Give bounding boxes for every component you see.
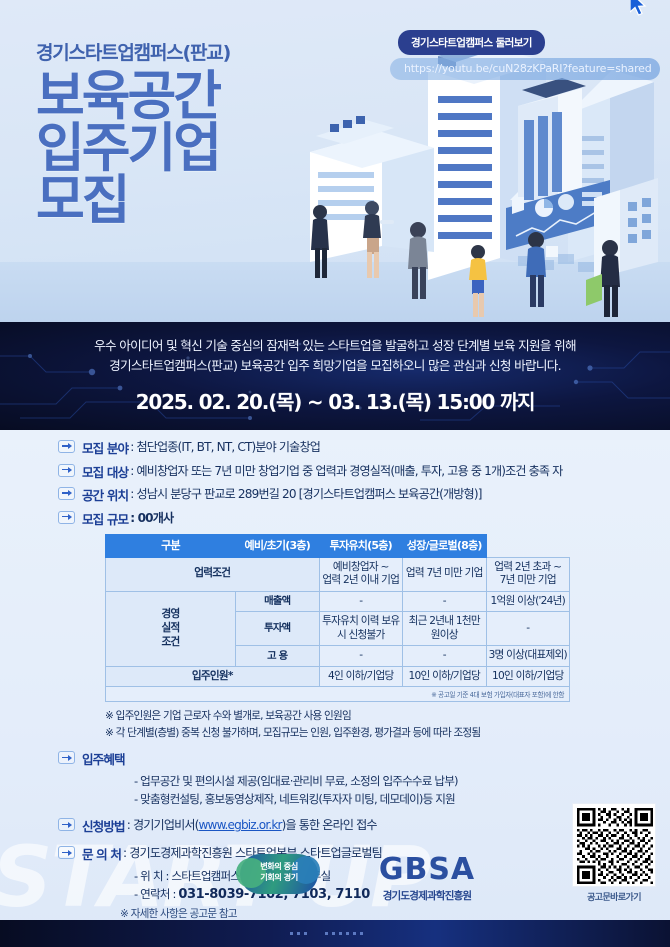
qr-svg xyxy=(577,808,653,884)
table-row: 입주인원*4인 이하/기업당10인 이하/기업당10인 이하/기업당 xyxy=(106,666,570,687)
benefits-label: 입주혜택 xyxy=(82,749,125,768)
arrow-icon xyxy=(58,487,75,500)
title-block: 경기스타트업캠퍼스(판교) 보육공간 입주기업 모집 xyxy=(36,38,230,227)
bullet-row-4: 모집 규모 : 00개사 xyxy=(58,509,640,528)
notes-block: ※ 입주인원은 기업 근로자 수와 별개로, 보육공간 사용 인원임 ※ 각 단… xyxy=(58,708,640,740)
bullet-text: : 예비창업자 또는 7년 미만 창업기업 중 업력과 경영실적(매출, 투자,… xyxy=(130,462,562,479)
band-line-2: 경기스타트업캠퍼스(판교) 보육공간 입주 희망기업을 모집하오니 많은 관심과… xyxy=(0,356,670,376)
note-1: ※ 입주인원은 기업 근로자 수와 별개로, 보육공간 사용 인원임 xyxy=(105,708,640,723)
bullet-label: 모집 대상 xyxy=(82,462,128,481)
title-line-1: 보육공간 xyxy=(36,71,230,123)
bullet-row-1: 모집 분야 : 첨단업종(IT, BT, NT, CT)분야 기술창업 xyxy=(58,438,640,457)
mouse-cursor-icon xyxy=(630,0,648,18)
table-cell-2-1: 최근 2년내 1천만원이상 xyxy=(403,612,487,646)
row-label: 업력조건 xyxy=(106,557,320,591)
table-cell-3-2: 3명 이상(대표제외) xyxy=(486,646,570,667)
arrow-icon xyxy=(58,511,75,524)
main-content: START UP 모집 분야 : 첨단업종(IT, BT, NT, CT)분야 … xyxy=(0,430,670,947)
youtube-url[interactable]: https://youtu.be/cuN28zKPaRI?feature=sha… xyxy=(390,58,660,80)
table-cell-0-2: 업력 2년 초과 ~7년 미만 기업 xyxy=(486,557,570,591)
bullet-label: 모집 분야 xyxy=(82,438,128,457)
title-line-2: 입주기업 xyxy=(36,123,230,175)
table-cell-1-1: - xyxy=(403,591,487,612)
dot xyxy=(339,932,342,935)
qr-block[interactable]: 공고문바로가기 xyxy=(572,803,656,903)
band-description: 우수 아이디어 및 혁신 기술 중심의 잠재력 있는 스타트업을 발굴하고 성장… xyxy=(0,322,670,375)
poster: 경기스타트업캠퍼스 둘러보기 https://youtu.be/cuN28zKP… xyxy=(0,0,670,947)
table-cell-1-2: 1억원 이상('24년) xyxy=(486,591,570,612)
page-title: 보육공간 입주기업 모집 xyxy=(36,71,230,227)
youtube-link-block[interactable]: 경기스타트업캠퍼스 둘러보기 https://youtu.be/cuN28zKP… xyxy=(390,30,660,80)
table-cell-0-0: 예비창업자 ~업력 2년 이내 기업 xyxy=(319,557,403,591)
criteria-table: 구분예비/초기(3층)투자유치(5층)성장/글로벌(8층) 업력조건예비창업자 … xyxy=(105,534,570,688)
table-row: 경영실적조건매출액--1억원 이상('24년) xyxy=(106,591,570,612)
city-svg xyxy=(310,40,670,320)
dot xyxy=(346,932,349,935)
bullet-label: 공간 위치 xyxy=(82,485,128,504)
note-2: ※ 각 단계별(층별) 중복 신청 불가하며, 모집규모는 인원, 입주환경, … xyxy=(105,725,640,740)
bullet-label: 모집 규모 xyxy=(82,509,128,528)
table-cell-3-0: - xyxy=(319,646,403,667)
dot xyxy=(360,932,363,935)
description-band: 우수 아이디어 및 혁신 기술 중심의 잠재력 있는 스타트업을 발굴하고 성장… xyxy=(0,322,670,430)
row-group-label: 경영실적조건 xyxy=(106,591,236,666)
table-header-2: 투자유치(5층) xyxy=(319,534,403,557)
table-cell-2-2: - xyxy=(486,612,570,646)
title-line-3: 모집 xyxy=(36,175,230,227)
gyeonggi-logo: 변화의 중심 기회의 경기 xyxy=(240,854,318,898)
apply-prefix: 경기기업비서( xyxy=(133,818,199,832)
city-illustration xyxy=(310,40,670,320)
table-cell-4-1: 10인 이하/기업당 xyxy=(403,666,487,687)
qr-label: 공고문바로가기 xyxy=(572,890,656,903)
row-sub-label: 고 용 xyxy=(236,646,320,667)
benefit-item-1: - 업무공간 및 편의시설 제공(임대료·관리비 무료, 소정의 입주수수료 납… xyxy=(134,773,640,789)
footer-logos: 변화의 중심 기회의 경기 GBSA 경기도경제과학진흥원 xyxy=(0,842,670,920)
strip-dots xyxy=(290,932,363,935)
gg-logo-line-1: 변화의 중심 xyxy=(240,861,318,872)
table-cell-4-0: 4인 이하/기업당 xyxy=(319,666,403,687)
table-cell-4-2: 10인 이하/기업당 xyxy=(486,666,570,687)
dot xyxy=(353,932,356,935)
table-footnote: ※ 공고일 기준 4대 보험 가입자(대표자 포함)에 한함 xyxy=(105,687,570,702)
gg-logo-line-2: 기회의 경기 xyxy=(240,872,318,883)
youtube-badge[interactable]: 경기스타트업캠퍼스 둘러보기 xyxy=(398,30,545,55)
table-header-0: 구분 xyxy=(106,534,236,557)
benefit-item-2: - 맞춤형컨설팅, 홍보동영상제작, 네트워킹(투자자 미팅, 데모데이)등 지… xyxy=(134,791,640,807)
table-cell-0-1: 업력 7년 미만 기업 xyxy=(403,557,487,591)
table-cell-2-0: 투자유치 이력 보유시 신청불가 xyxy=(319,612,403,646)
dot xyxy=(325,932,328,935)
table-cell-1-0: - xyxy=(319,591,403,612)
dot xyxy=(297,932,300,935)
table-row: 업력조건예비창업자 ~업력 2년 이내 기업업력 7년 미만 기업업력 2년 초… xyxy=(106,557,570,591)
deadline-text: 2025. 02. 20.(목) ~ 03. 13.(목) 15:00 까지 xyxy=(0,386,670,415)
bullet-list: 모집 분야 : 첨단업종(IT, BT, NT, CT)분야 기술창업모집 대상… xyxy=(58,438,640,528)
arrow-icon xyxy=(58,464,75,477)
band-line-1: 우수 아이디어 및 혁신 기술 중심의 잠재력 있는 스타트업을 발굴하고 성장… xyxy=(0,336,670,356)
apply-text: : 경기기업비서(www.egbiz.or.kr)을 통한 온라인 접수 xyxy=(127,816,377,833)
apply-suffix: )을 통한 온라인 접수 xyxy=(282,818,377,832)
row-sub-label: 투자액 xyxy=(236,612,320,646)
dot xyxy=(290,932,293,935)
apply-label: 신청방법 xyxy=(82,816,125,835)
apply-row: 신청방법 : 경기기업비서(www.egbiz.or.kr)을 통한 온라인 접… xyxy=(58,816,640,835)
criteria-table-wrap: 구분예비/초기(3층)투자유치(5층)성장/글로벌(8층) 업력조건예비창업자 … xyxy=(105,534,570,703)
gbsa-subtitle: 경기도경제과학진흥원 xyxy=(352,888,502,903)
benefits-header: 입주혜택 xyxy=(58,749,640,768)
bottom-strip xyxy=(0,920,670,947)
dot xyxy=(332,932,335,935)
bullet-row-2: 모집 대상 : 예비창업자 또는 7년 미만 창업기업 중 업력과 경영실적(매… xyxy=(58,462,640,481)
table-header-row: 구분예비/초기(3층)투자유치(5층)성장/글로벌(8층) xyxy=(106,534,570,557)
hero-section: 경기스타트업캠퍼스 둘러보기 https://youtu.be/cuN28zKP… xyxy=(0,0,670,322)
arrow-icon xyxy=(58,818,75,831)
gbsa-logo: GBSA 경기도경제과학진흥원 xyxy=(352,852,502,903)
arrow-icon xyxy=(58,440,75,453)
kicker-text: 경기스타트업캠퍼스(판교) xyxy=(36,38,230,65)
gbsa-wordmark: GBSA xyxy=(352,852,502,887)
table-header-1: 예비/초기(3층) xyxy=(236,534,320,557)
row-label: 입주인원* xyxy=(106,666,320,687)
benefits-section: 입주혜택 - 업무공간 및 편의시설 제공(임대료·관리비 무료, 소정의 입주… xyxy=(58,749,640,807)
bullet-text: : 첨단업종(IT, BT, NT, CT)분야 기술창업 xyxy=(130,438,320,455)
table-header-3: 성장/글로벌(8층) xyxy=(403,534,487,557)
bullet-row-3: 공간 위치 : 성남시 분당구 판교로 289번길 20 [경기스타트업캠퍼스 … xyxy=(58,485,640,504)
gg-logo-text: 변화의 중심 기회의 경기 xyxy=(240,861,318,884)
table-cell-3-1: - xyxy=(403,646,487,667)
table-head: 구분예비/초기(3층)투자유치(5층)성장/글로벌(8층) xyxy=(106,534,570,557)
bullet-text: : 성남시 분당구 판교로 289번길 20 [경기스타트업캠퍼스 보육공간(개… xyxy=(130,485,481,502)
qr-code[interactable] xyxy=(572,803,656,887)
bullet-text: : 00개사 xyxy=(130,509,173,526)
dot xyxy=(304,932,307,935)
egbiz-link[interactable]: www.egbiz.or.kr xyxy=(199,818,282,832)
arrow-icon xyxy=(58,751,75,764)
row-sub-label: 매출액 xyxy=(236,591,320,612)
table-body: 업력조건예비창업자 ~업력 2년 이내 기업업력 7년 미만 기업업력 2년 초… xyxy=(106,557,570,687)
